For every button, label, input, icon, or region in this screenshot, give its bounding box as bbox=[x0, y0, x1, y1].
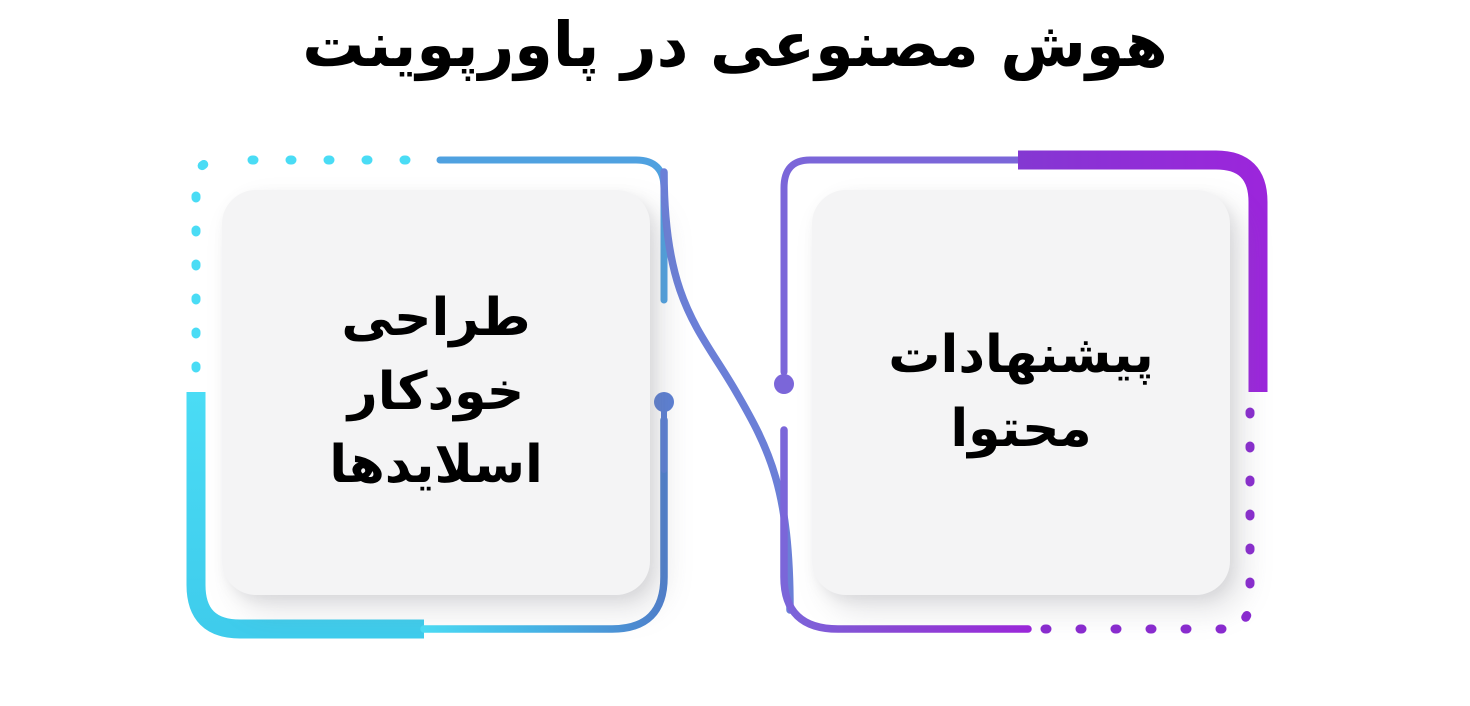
right-node-dot bbox=[774, 374, 794, 394]
card-automatic-slide-design[interactable]: طراحی خودکار اسلایدها bbox=[222, 190, 650, 595]
card-right-label: پیشنهادات محتوا bbox=[812, 319, 1230, 467]
connector-diagram bbox=[0, 0, 1470, 706]
left-track-left-dotted bbox=[196, 161, 216, 368]
right-track-right-dotted bbox=[1228, 412, 1250, 628]
card-left-label: طراحی خودکار اسلایدها bbox=[222, 282, 650, 503]
s-curve-path bbox=[664, 172, 790, 610]
center-s-curve bbox=[664, 172, 790, 610]
left-node-dot bbox=[654, 392, 674, 412]
card-content-suggestions[interactable]: پیشنهادات محتوا bbox=[812, 190, 1230, 595]
infographic-root: هوش مصنوعی در پاورپوینت bbox=[0, 0, 1470, 706]
page-title: هوش مصنوعی در پاورپوینت bbox=[0, 8, 1470, 81]
